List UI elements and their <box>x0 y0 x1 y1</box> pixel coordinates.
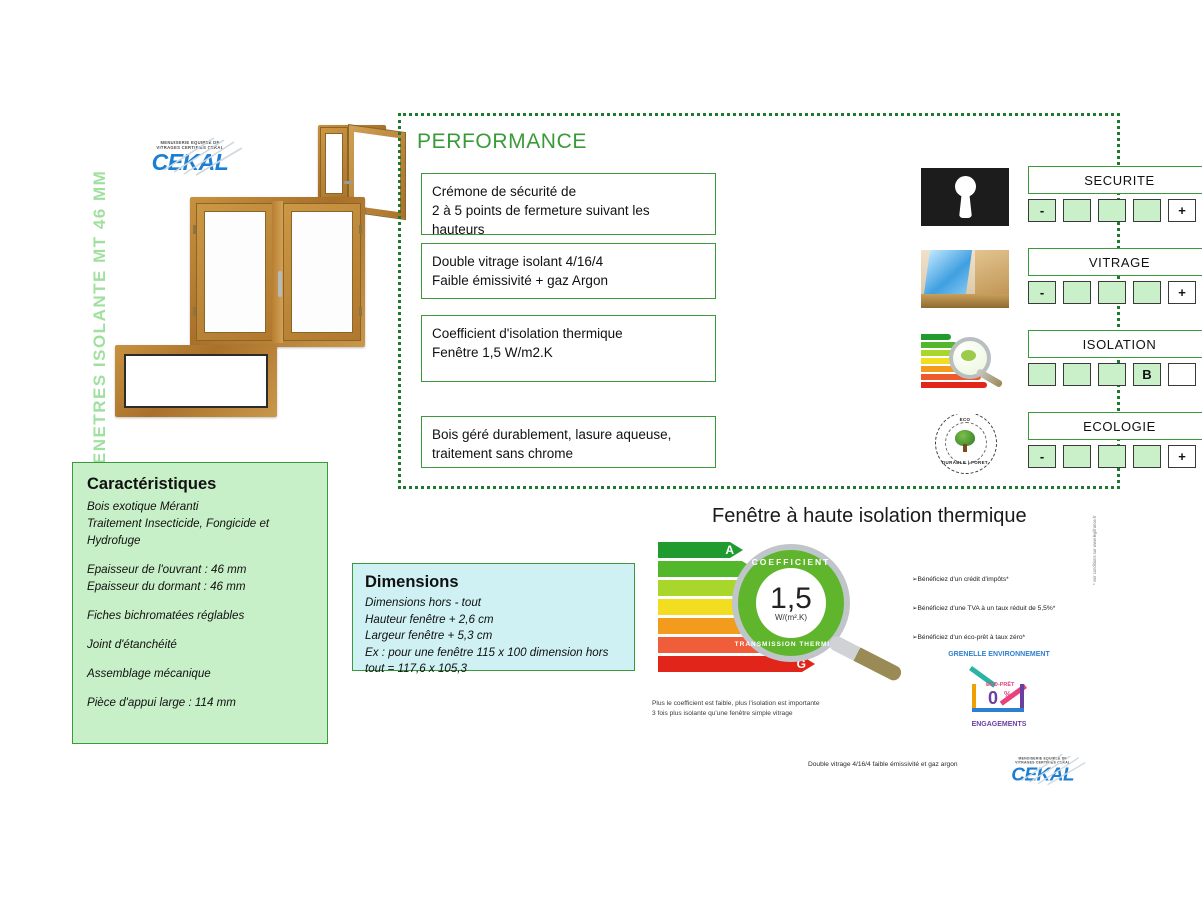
cekal-logo-top: MENUISERIE EQUIPEE DE VITRAGES CERTIFIES… <box>144 140 236 174</box>
rating-cell[interactable] <box>1133 281 1161 304</box>
rating-row-ecologie: ECO DURABLE | FORET ECOLOGIE - + <box>921 412 1202 480</box>
rating-cell[interactable]: - <box>1028 445 1056 468</box>
energy-magnifier-icon <box>921 332 1009 392</box>
coefficient-value: 1,5 <box>770 585 812 613</box>
rating-cell[interactable] <box>1028 363 1056 386</box>
rating-cells-securite: - + <box>1028 199 1196 222</box>
eco-stamp-icon: ECO DURABLE | FORET <box>921 414 1009 474</box>
energy-letter: A <box>725 542 734 558</box>
rating-cell[interactable] <box>1098 281 1126 304</box>
benefit-item: ➢Bénéficiez d'une TVA à un taux réduit d… <box>912 604 1092 612</box>
glazing-icon <box>921 250 1009 310</box>
grenelle-environnement-logo: GRENELLE ENVIRONNEMENT ECO-PRÊT 0 % ENGA… <box>944 652 1054 728</box>
ecopret-zero: 0 <box>988 688 998 709</box>
dimensions-box: Dimensions Dimensions hors - tout Hauteu… <box>352 563 635 671</box>
rating-cell[interactable]: + <box>1168 445 1196 468</box>
carac-line: Assemblage mécanique <box>87 665 313 682</box>
rating-cell[interactable] <box>1133 199 1161 222</box>
dim-line: Ex : pour une fenêtre 115 x 100 dimensio… <box>365 645 622 678</box>
grenelle-bottom-text: ENGAGEMENTS <box>944 721 1054 728</box>
rating-label-vitrage: VITRAGE <box>1028 248 1202 276</box>
rating-cell[interactable]: - <box>1028 281 1056 304</box>
vertical-product-title: FENETRES ISOLANTE MT 46 MM <box>64 118 100 478</box>
carac-line: Epaisseur de l'ouvrant : 46 mm <box>87 561 313 578</box>
dim-line: Largeur fenêtre + 5,3 cm <box>365 628 622 645</box>
rating-label-isolation: ISOLATION <box>1028 330 1202 358</box>
cekal-rays-icon <box>156 136 246 176</box>
vertical-product-title-text: FENETRES ISOLANTE MT 46 MM <box>90 170 110 476</box>
eco-stamp-top-text: ECO <box>921 417 1009 422</box>
rating-cell[interactable] <box>1063 281 1091 304</box>
carac-line: Pièce d'appui large : 114 mm <box>87 694 313 711</box>
rating-row-isolation: ISOLATION B <box>921 330 1202 398</box>
rating-cell[interactable]: + <box>1168 281 1196 304</box>
coefficient-unit: W/(m².K) <box>775 613 807 622</box>
rating-cells-vitrage: - + <box>1028 281 1196 304</box>
energy-label-graphic: A F G COEFFICIENT 1,5 W/(m².K) TRANSMISS… <box>658 538 888 688</box>
benefit-item: ➢Bénéficiez d'un crédit d'impôts* <box>912 575 1092 583</box>
window-photo-double-casement <box>190 197 365 347</box>
carac-line: Traitement Insecticide, Fongicide et Hyd… <box>87 515 313 549</box>
performance-panel: PERFORMANCE Crémone de sécurité de 2 à 5… <box>398 113 1120 489</box>
rating-cells-isolation: B <box>1028 363 1196 386</box>
rating-label-securite: SECURITE <box>1028 166 1202 194</box>
window-right-sash <box>283 203 361 341</box>
performance-title: PERFORMANCE <box>417 130 587 154</box>
keyhole-icon <box>921 168 1009 228</box>
grenelle-top-text: GRENELLE ENVIRONNEMENT <box>944 651 1054 658</box>
rating-cell[interactable] <box>1168 363 1196 386</box>
rating-cell[interactable]: - <box>1028 199 1056 222</box>
cekal-rays-icon <box>1015 753 1089 786</box>
window-photo-transom <box>115 345 277 417</box>
carac-line: Epaisseur du dormant : 46 mm <box>87 578 313 595</box>
caracteristiques-title: Caractéristiques <box>87 475 313 494</box>
footnote-side-text: * voir conditions sur www.legifrance.fr <box>1092 573 1097 585</box>
dim-line: Hauteur fenêtre + 2,6 cm <box>365 612 622 629</box>
carac-line: Bois exotique Méranti <box>87 498 313 515</box>
carac-line: Fiches bichromatées réglables <box>87 607 313 624</box>
rating-cell[interactable] <box>1098 445 1126 468</box>
rating-cell[interactable] <box>1098 363 1126 386</box>
rating-cells-ecologie: - + <box>1028 445 1196 468</box>
rating-cell-b[interactable]: B <box>1133 363 1161 386</box>
transom-glass <box>124 354 268 408</box>
rating-cell[interactable] <box>1063 363 1091 386</box>
window-handle-icon <box>344 181 353 184</box>
marketing-subtitle: Fenêtre à haute isolation thermique <box>712 505 1027 528</box>
rating-cell[interactable] <box>1098 199 1126 222</box>
rating-label-ecologie: ECOLOGIE <box>1028 412 1202 440</box>
rating-cell[interactable]: + <box>1168 199 1196 222</box>
rating-cell[interactable] <box>1063 199 1091 222</box>
rating-cell[interactable] <box>1063 445 1091 468</box>
cekal-logo-bottom: MENUISERIE EQUIPEE DE VITRAGES CERTIFIES… <box>1005 756 1080 784</box>
datasheet-page: FENETRES ISOLANTE MT 46 MM MENUISERIE EQ… <box>0 0 1202 901</box>
magnifier-handle <box>827 634 903 683</box>
bottom-glazing-note: Double vitrage 4/16/4 faible émissivité … <box>808 761 958 768</box>
dimensions-title: Dimensions <box>365 573 622 592</box>
eco-stamp-bottom-text: DURABLE | FORET <box>921 460 1009 465</box>
coefficient-arc-top: COEFFICIENT <box>732 557 850 567</box>
caracteristiques-box: Caractéristiques Bois exotique Méranti T… <box>72 462 328 744</box>
performance-box-insulation: Coefficient d'isolation thermique Fenêtr… <box>421 315 716 382</box>
dim-line: Dimensions hors - tout <box>365 595 622 612</box>
performance-box-ecology: Bois géré durablement, lasure aqueuse, t… <box>421 416 716 468</box>
benefits-list: ➢Bénéficiez d'un crédit d'impôts* ➢Bénéf… <box>912 575 1092 662</box>
window-handle-icon <box>278 271 282 297</box>
rating-row-vitrage: VITRAGE - + <box>921 248 1202 316</box>
rating-row-securite: SECURITE - + <box>921 166 1202 234</box>
rating-cell[interactable] <box>1133 445 1161 468</box>
performance-box-security: Crémone de sécurité de 2 à 5 points de f… <box>421 173 716 235</box>
window-left-sash <box>196 203 274 341</box>
performance-box-glazing: Double vitrage isolant 4/16/4 Faible émi… <box>421 243 716 299</box>
benefit-item: ➢Bénéficiez d'un éco-prêt à taux zéro* <box>912 633 1092 641</box>
carac-line: Joint d'étanchéité <box>87 636 313 653</box>
energy-caption: Plus le coefficient est faible, plus l'i… <box>652 699 912 718</box>
ecopret-percent: % <box>1004 690 1011 699</box>
